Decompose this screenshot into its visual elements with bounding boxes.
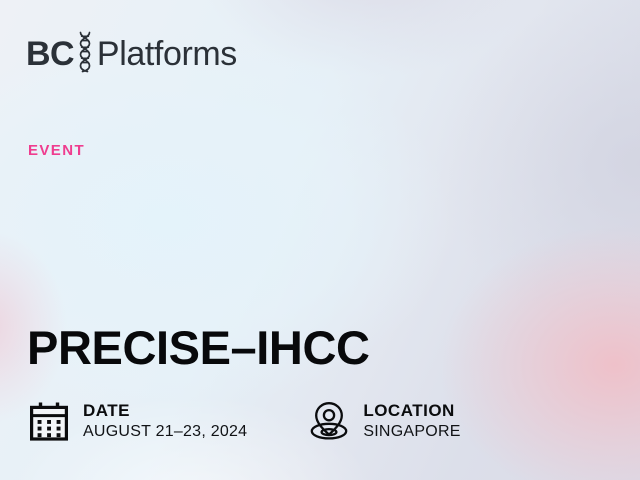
event-date-block: DATE AUGUST 21–23, 2024 — [26, 396, 247, 446]
bc-platforms-logo: BC Platforms — [26, 34, 237, 74]
event-location-label: LOCATION — [363, 400, 460, 421]
event-location-value: SINGAPORE — [363, 421, 460, 442]
event-location-text: LOCATION SINGAPORE — [363, 400, 460, 442]
event-details: DATE AUGUST 21–23, 2024 — [26, 396, 461, 446]
event-category-label: EVENT — [28, 143, 85, 158]
event-date-text: DATE AUGUST 21–23, 2024 — [83, 400, 247, 442]
calendar-icon — [26, 396, 72, 446]
dna-helix-icon — [74, 30, 96, 79]
logo-bc-text: BC — [26, 37, 74, 71]
event-date-value: AUGUST 21–23, 2024 — [83, 421, 247, 442]
banner-content: BC Platforms — [0, 0, 640, 480]
event-date-label: DATE — [83, 400, 247, 421]
page-title-line-1: PRECISE–IHCC — [27, 321, 468, 374]
logo-platforms-text: Platforms — [97, 37, 237, 71]
event-banner: BC Platforms — [0, 0, 640, 480]
map-pin-icon — [306, 396, 352, 446]
event-location-block: LOCATION SINGAPORE — [306, 396, 460, 446]
